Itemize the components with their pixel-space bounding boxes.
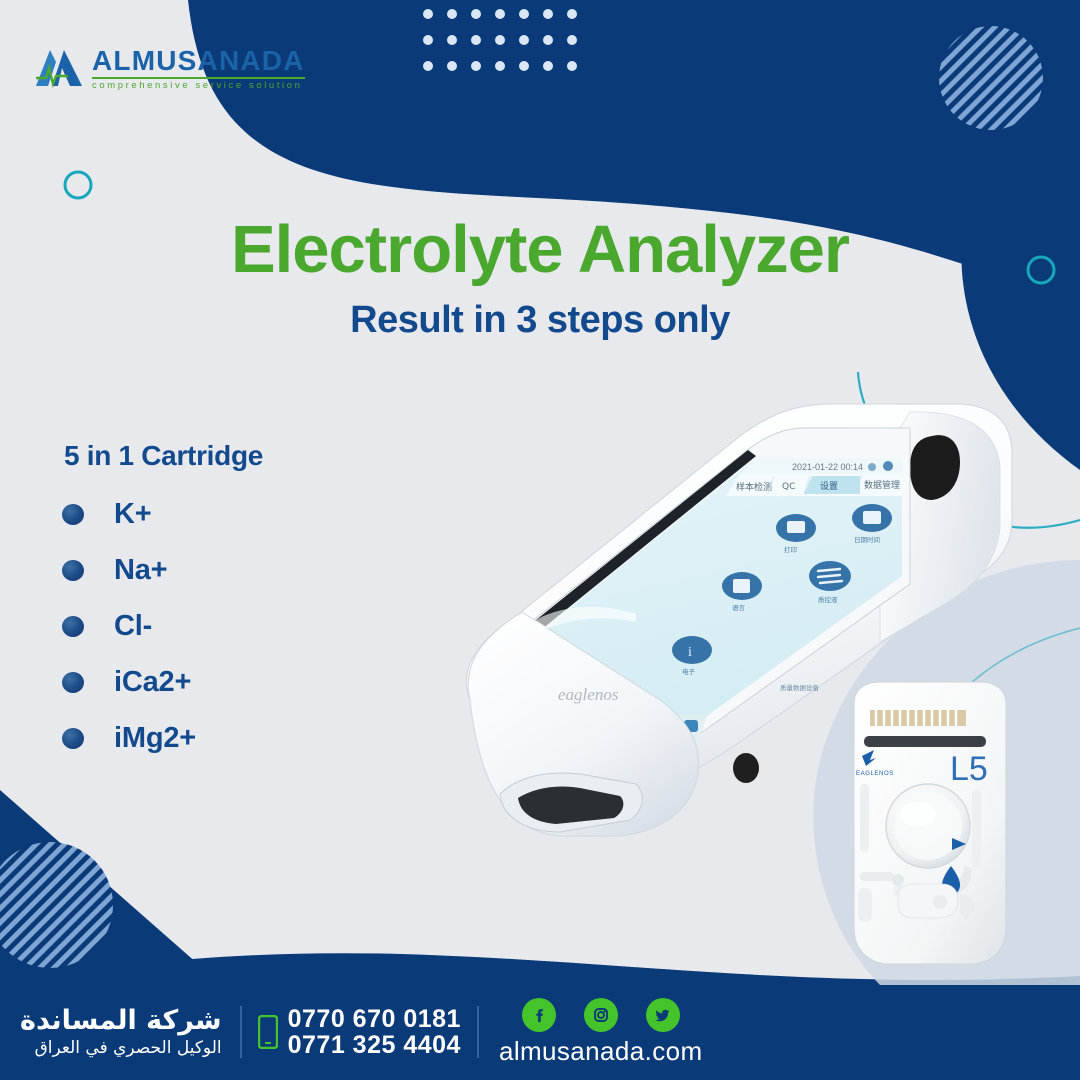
phone-number-2[interactable]: 0771 325 4404	[288, 1032, 461, 1058]
company-logo[interactable]: ALMUSANADA comprehensive service solutio…	[34, 44, 305, 90]
list-item: K+	[62, 498, 402, 531]
svg-text:i: i	[688, 645, 692, 660]
logo-wordmark: ALMUSANADA	[92, 47, 305, 75]
svg-text:语言: 语言	[732, 603, 746, 612]
right-rail	[972, 790, 981, 868]
tab-settings: 设置	[820, 481, 838, 492]
feature-label: Na+	[114, 554, 167, 587]
device-brand-label: eaglenos	[558, 685, 619, 704]
contact-footer: شركة المساندة الوكيل الحصري في العراق 07…	[0, 984, 1080, 1080]
bullet-dot	[62, 560, 84, 581]
bullet-dot	[62, 504, 84, 525]
plunger-assembly	[898, 884, 958, 918]
mountain-pulse-mark	[34, 44, 86, 90]
tab-qc: QC	[782, 482, 795, 492]
contact-strip	[870, 710, 966, 726]
cartridge-model-label: L5	[950, 750, 988, 788]
list-item: iCa2+	[62, 666, 402, 699]
tab-data: 数据管理	[864, 479, 900, 491]
phone-block[interactable]: 0770 670 0181 0771 325 4404	[258, 1006, 461, 1059]
svg-text:日期时间: 日期时间	[854, 535, 880, 544]
feature-label: iMg2+	[114, 722, 196, 755]
bullet-dot	[62, 728, 84, 749]
sensor-slot	[864, 736, 986, 747]
feature-label: Cl-	[114, 610, 152, 643]
volume-icon	[883, 461, 893, 471]
title-block: Electrolyte Analyzer Result in 3 steps o…	[0, 216, 1080, 339]
phone-number-1[interactable]: 0770 670 0181	[288, 1006, 461, 1032]
logo-tagline: comprehensive service solution	[92, 81, 305, 91]
footer-divider-2	[477, 1006, 479, 1058]
cartridge-image: EAGLENOS L5	[840, 680, 1020, 970]
arabic-company-subtitle: الوكيل الحصري في العراق	[20, 1039, 222, 1058]
main-title: Electrolyte Analyzer	[0, 216, 1080, 283]
social-block: almusanada.com	[499, 998, 703, 1067]
list-item: Na+	[62, 554, 402, 587]
device-front-button	[733, 753, 759, 783]
instagram-icon[interactable]	[584, 998, 618, 1032]
svg-text:打印: 打印	[784, 545, 797, 554]
battery-icon	[868, 463, 876, 471]
bullet-dot	[62, 672, 84, 693]
screen-footer-note: 质量数据设备	[780, 683, 820, 692]
arabic-company-block: شركة المساندة الوكيل الحصري في العراق	[20, 1006, 222, 1058]
list-item: iMg2+	[62, 722, 402, 755]
logo-rule	[92, 77, 305, 79]
arabic-company-name: شركة المساندة	[20, 1006, 222, 1036]
mobile-phone-icon	[258, 1015, 278, 1049]
tab-sample: 样本检测	[736, 481, 772, 493]
cartridge-brand-text: EAGLENOS	[856, 771, 894, 777]
list-item: Cl-	[62, 610, 402, 643]
footer-divider-1	[240, 1006, 242, 1058]
poster-canvas: ALMUSANADA comprehensive service solutio…	[0, 0, 1080, 1080]
left-rail	[860, 784, 869, 852]
facebook-icon[interactable]	[522, 998, 556, 1032]
feature-label: iCa2+	[114, 666, 191, 699]
website-url[interactable]: almusanada.com	[499, 1036, 703, 1067]
twitter-icon[interactable]	[646, 998, 680, 1032]
social-icon-row	[522, 998, 680, 1032]
info-icon	[672, 636, 712, 664]
feature-list-heading: 5 in 1 Cartridge	[64, 440, 402, 472]
svg-text:质控液: 质控液	[818, 595, 838, 604]
sub-title: Result in 3 steps only	[0, 301, 1080, 339]
svg-text:电子: 电子	[682, 667, 696, 676]
feature-list: 5 in 1 Cartridge K+ Na+ Cl- iCa2+ iMg2+	[62, 440, 402, 778]
bullet-dot	[62, 616, 84, 637]
feature-label: K+	[114, 498, 151, 531]
screen-status-time: 2021-01-22 00:14	[792, 462, 863, 472]
